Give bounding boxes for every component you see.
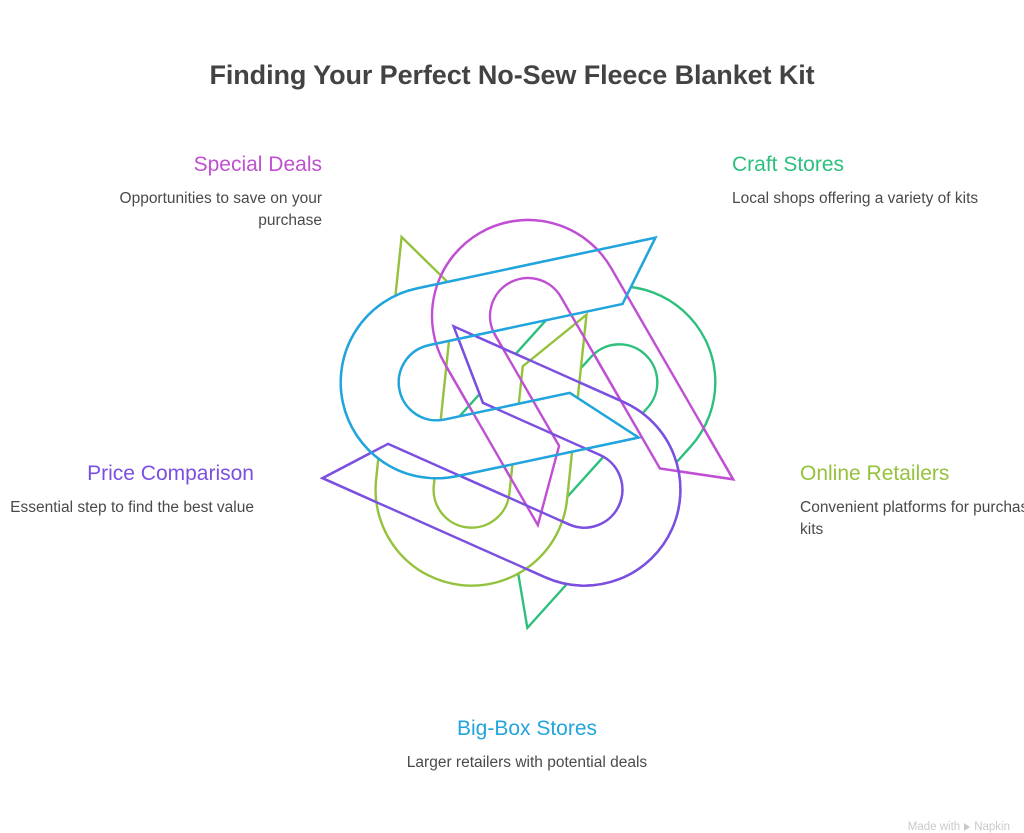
watermark: Made with Napkin	[908, 821, 1010, 833]
node-craft-stores-label: Craft Stores	[732, 152, 994, 178]
watermark-prefix: Made with	[908, 821, 960, 833]
node-big-box-stores-description: Larger retailers with potential deals	[396, 752, 658, 774]
node-special-deals-label: Special Deals	[60, 152, 322, 178]
node-online-retailers[interactable]: Online Retailers Convenient platforms fo…	[800, 461, 1024, 541]
node-craft-stores-description: Local shops offering a variety of kits	[732, 188, 994, 210]
node-craft-stores[interactable]: Craft Stores Local shops offering a vari…	[732, 152, 994, 210]
watermark-brand: Napkin	[974, 821, 1010, 833]
node-price-comparison[interactable]: Price Comparison Essential step to find …	[0, 461, 254, 519]
node-price-comparison-label: Price Comparison	[0, 461, 254, 487]
node-special-deals-description: Opportunities to save on your purchase	[60, 188, 322, 232]
node-online-retailers-label: Online Retailers	[800, 461, 1024, 487]
page-title: Finding Your Perfect No-Sew Fleece Blank…	[0, 60, 1024, 91]
interlocking-knot-diagram	[258, 160, 798, 680]
knot-svg	[258, 160, 798, 680]
node-special-deals[interactable]: Special Deals Opportunities to save on y…	[60, 152, 322, 232]
node-online-retailers-description: Convenient platforms for purchasing kits	[800, 497, 1024, 541]
node-big-box-stores[interactable]: Big-Box Stores Larger retailers with pot…	[396, 716, 658, 774]
node-price-comparison-description: Essential step to find the best value	[0, 497, 254, 519]
node-big-box-stores-label: Big-Box Stores	[396, 716, 658, 742]
infographic-canvas: Finding Your Perfect No-Sew Fleece Blank…	[0, 0, 1024, 829]
napkin-logo-icon	[964, 823, 970, 831]
